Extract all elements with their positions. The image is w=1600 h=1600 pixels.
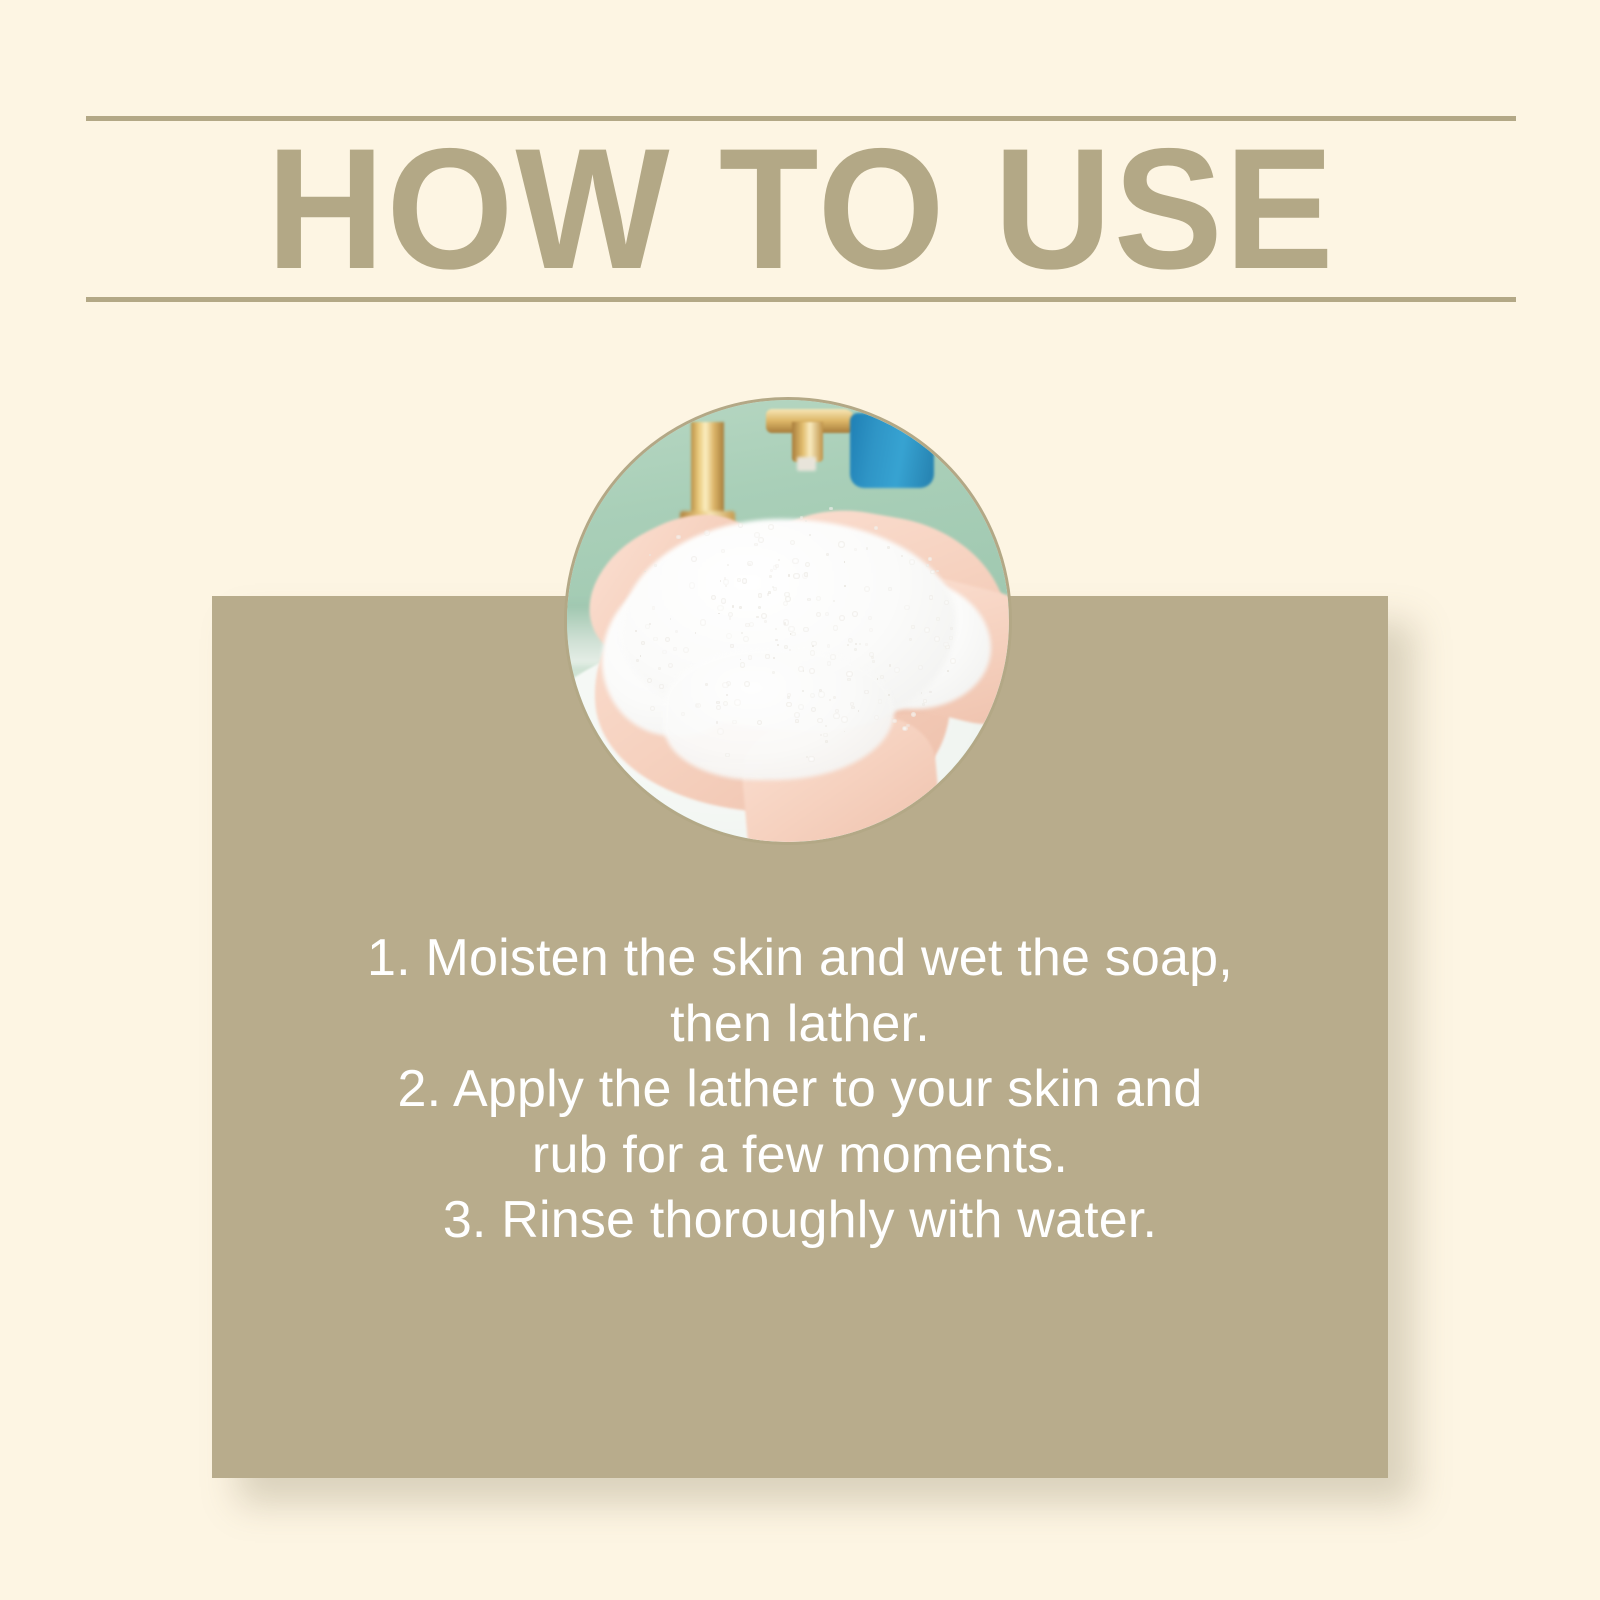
foam-bubble	[775, 564, 778, 567]
foam-bubble	[792, 558, 799, 565]
foam-bubble	[911, 625, 914, 628]
foam-bubble	[670, 618, 671, 619]
foam-bubble	[872, 660, 875, 663]
foam-bubble	[851, 706, 854, 709]
foam-bubble	[767, 593, 769, 595]
foam-bubble	[721, 549, 725, 553]
foam-bubble	[732, 720, 736, 724]
photo-canvas	[567, 400, 1009, 842]
foam-bubble	[723, 701, 728, 706]
foam-bubble	[652, 606, 656, 610]
foam-bubble	[794, 712, 800, 718]
foam-bubble	[795, 719, 799, 723]
foam-bubble	[740, 662, 745, 667]
how-to-use-poster: HOW TO USE 1. Moisten the skin and wet t…	[0, 0, 1600, 1600]
faucet-column	[691, 422, 724, 524]
foam-bubble	[874, 715, 879, 720]
foam-bubble	[784, 592, 789, 597]
foam-bubble	[717, 728, 724, 735]
foam-bubble	[742, 578, 748, 584]
foam-bubble	[838, 541, 845, 548]
foam-bubble	[827, 661, 831, 665]
foam-bubble	[827, 644, 831, 648]
foam-bubble	[803, 627, 809, 633]
foam-bubble	[645, 624, 650, 629]
foam-bubble	[888, 694, 890, 696]
foam-bubble	[805, 562, 810, 567]
instruction-step: 3. Rinse thoroughly with water.	[272, 1188, 1328, 1254]
foam-bubble	[804, 572, 808, 576]
instructions-list: 1. Moisten the skin and wet the soap, th…	[212, 926, 1388, 1254]
foam-bubble	[772, 586, 774, 588]
foam-bubble	[830, 654, 836, 660]
foam-bubble	[811, 707, 816, 712]
foam-bubble	[653, 637, 658, 642]
foam-bubble	[658, 667, 661, 670]
foam-bubble	[716, 701, 719, 704]
foam-bubble	[783, 601, 788, 606]
foam-bubble	[773, 587, 776, 590]
soap-dispenser	[850, 413, 934, 488]
foam-bubble	[635, 630, 637, 632]
title-rule-bottom	[86, 297, 1516, 302]
foam-bubble	[829, 507, 832, 510]
foam-bubble	[695, 703, 700, 708]
foam-bubble	[700, 619, 706, 625]
foam-bubble	[798, 704, 804, 710]
foam-bubble	[859, 643, 861, 645]
foam-bubble	[805, 520, 806, 521]
foam-bubble	[852, 611, 858, 617]
foam-bubble	[788, 626, 794, 632]
foam-bubble	[641, 641, 645, 645]
foam-bubble	[743, 636, 749, 642]
foam-bubble	[734, 699, 741, 706]
foam-bubble	[745, 623, 749, 627]
foam-bubble	[721, 598, 727, 604]
foam-bubble	[847, 644, 849, 646]
foam-bubble	[833, 713, 840, 720]
foam-bubble	[906, 724, 910, 728]
foam-bubble	[662, 650, 667, 655]
foam-bubble	[725, 753, 730, 758]
foam-bubble	[950, 658, 956, 664]
foam-bubble	[786, 702, 791, 707]
foam-bubble	[911, 712, 916, 717]
foam-bubble	[866, 547, 869, 550]
foam-bubble	[823, 733, 827, 737]
foam-bubble	[858, 710, 860, 712]
foam-bubble	[768, 524, 774, 530]
foam-bubble	[764, 620, 767, 623]
foam-bubble	[711, 595, 716, 600]
foam-bubble	[949, 636, 952, 639]
foam-bubble	[816, 612, 821, 617]
foam-bubble	[758, 606, 761, 609]
foam-bubble	[880, 675, 884, 679]
foam-bubble	[808, 756, 815, 763]
faucet-spout	[792, 422, 823, 462]
instruction-step: then lather.	[272, 992, 1328, 1058]
foam-bubble	[816, 596, 821, 601]
foam-bubble	[744, 681, 750, 687]
foam-bubble	[727, 564, 729, 566]
foam-bubble	[904, 605, 910, 611]
foam-bubble	[800, 516, 803, 519]
foam-bubble	[889, 664, 892, 667]
foam-bubble	[810, 693, 815, 698]
header: HOW TO USE	[86, 116, 1516, 302]
instruction-step: 2. Apply the lather to your skin and	[272, 1057, 1328, 1123]
foam-bubble	[673, 647, 677, 651]
foam-bubble	[765, 654, 769, 658]
foam-bubble	[775, 639, 778, 642]
foam-bubble	[683, 647, 689, 653]
foam-bubble	[793, 573, 800, 580]
foam-bubble	[723, 579, 728, 584]
foam-bubble	[654, 564, 656, 566]
foam-bubble	[738, 523, 743, 528]
foam-bubble	[846, 671, 853, 678]
foam-bubble	[944, 600, 949, 605]
foam-bubble	[930, 570, 934, 574]
foam-bubble	[825, 740, 828, 743]
foam-bubble	[737, 578, 741, 582]
foam-bubble	[730, 644, 733, 647]
foam-bubble	[947, 670, 949, 672]
foam-bubble	[854, 548, 857, 551]
foam-bubble	[929, 595, 934, 600]
foam-bubble	[659, 684, 663, 688]
foam-bubble	[807, 598, 811, 602]
foam-bubble	[810, 650, 816, 656]
foam-bubble	[809, 534, 811, 536]
foam-bubble	[668, 663, 673, 668]
foam-bubble	[689, 582, 695, 588]
page-title: HOW TO USE	[122, 116, 1481, 302]
foam-bubble	[770, 569, 772, 571]
foam-bubble	[918, 665, 923, 670]
foam-bubble	[888, 587, 892, 591]
foam-bubble	[761, 613, 767, 619]
foam-bubble	[717, 605, 723, 611]
foam-bubble	[748, 655, 752, 659]
foam-bubble	[728, 612, 733, 617]
foam-bubble	[818, 691, 825, 698]
foam-bubble	[841, 716, 848, 723]
faucet-aerator	[797, 457, 816, 470]
hand-washing-photo	[564, 397, 1012, 845]
foam-bubble	[864, 586, 870, 592]
instruction-step: 1. Moisten the skin and wet the soap,	[272, 926, 1328, 992]
foam-bubble	[722, 682, 728, 688]
foam-bubble	[909, 638, 911, 640]
foam-bubble	[756, 616, 758, 618]
instruction-step: rub for a few moments.	[272, 1123, 1328, 1189]
foam-bubble	[802, 690, 804, 692]
foam-bubble	[864, 690, 868, 694]
foam-bubble	[716, 705, 721, 710]
foam-bubble	[854, 648, 857, 651]
foam-bubble	[850, 702, 854, 706]
foam-bubble	[844, 585, 846, 587]
